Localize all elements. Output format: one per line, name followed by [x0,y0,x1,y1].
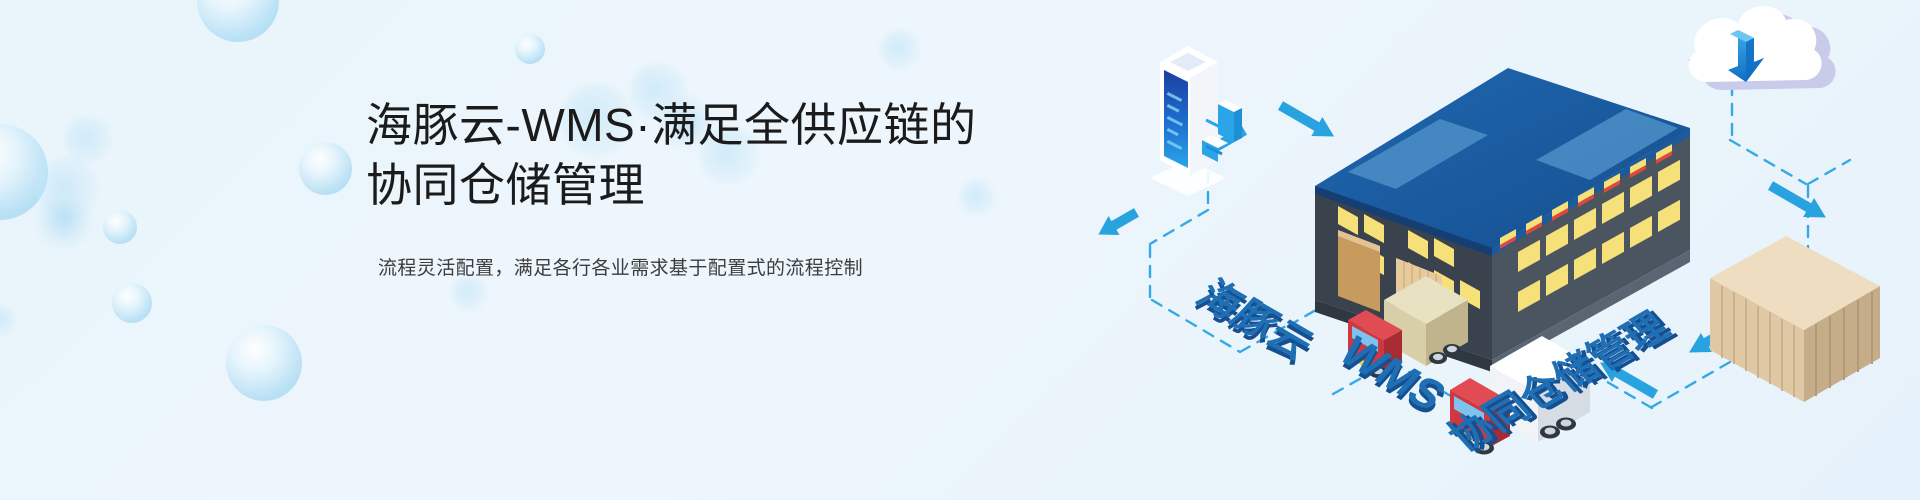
warehouse-illustration: 海豚云 海豚云 WMS WMS 协同仓储管理 协同仓储管理 [1090,0,1920,500]
bubble-decoration [0,124,48,220]
page-title: 海豚云-WMS·满足全供应链的 协同仓储管理 [366,96,1126,216]
shipping-container-icon [1710,236,1880,402]
bubble-decoration [299,142,352,195]
bubble-decoration [226,325,302,401]
bubble-decoration [65,117,111,163]
banner-subtitle: 流程灵活配置，满足各行各业需求基于配置式的流程控制 [378,254,1126,284]
bubble-decoration [0,305,16,335]
bubble-decoration [112,283,152,323]
banner-copy: 海豚云-WMS·满足全供应链的 协同仓储管理 流程灵活配置，满足各行各业需求基于… [366,96,1126,284]
cloud-download-icon [1689,6,1836,90]
bubble-decoration [880,30,920,70]
server-tower-icon [1150,46,1242,196]
bubble-decoration [515,34,545,64]
wms-promo-banner: 海豚云-WMS·满足全供应链的 协同仓储管理 流程灵活配置，满足各行各业需求基于… [0,0,1920,500]
bubble-decoration [197,0,279,42]
bubble-decoration [36,158,98,220]
bubble-decoration [40,196,88,244]
bubble-decoration [103,210,137,244]
